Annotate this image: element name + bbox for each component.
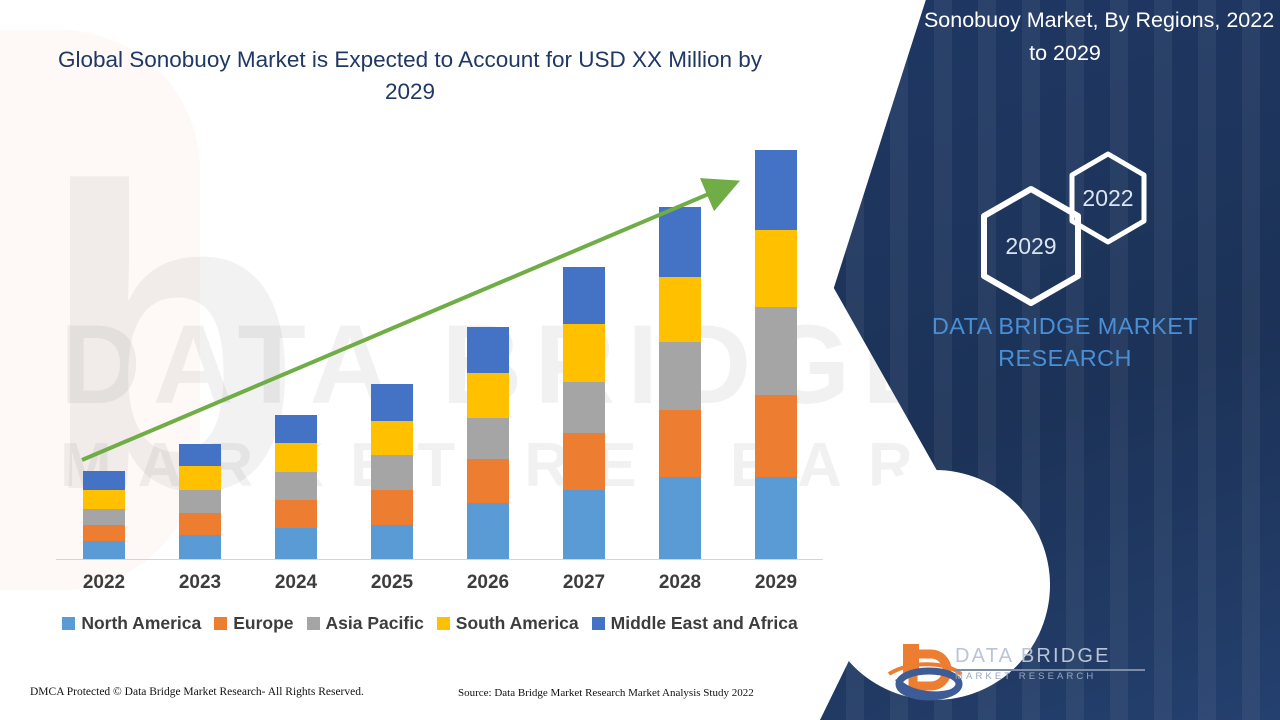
hexagon-2029: 2029 [975,184,1087,308]
bar-segment [659,410,701,477]
bar-segment [179,466,221,490]
bar-segment [755,395,797,477]
bar-segment [563,382,605,432]
legend-swatch-icon [307,617,320,630]
bar-column-2022 [56,150,152,559]
legend-label: North America [81,613,201,634]
bar-segment [371,490,413,525]
bar-segment [83,525,125,541]
bar-segment [467,418,509,460]
logo-text: DATA BRIDGE MARKET RESEARCH [955,645,1155,682]
bar-column-2024 [248,150,344,559]
bar-column-2026 [440,150,536,559]
bar-segment [755,477,797,559]
legend-label: Europe [233,613,293,634]
x-axis-label-2022: 2022 [56,572,152,594]
bar-segment [275,443,317,473]
logo-text-line-1: DATA BRIDGE [955,645,1155,668]
bar-segment [755,230,797,307]
bar-segment [563,433,605,490]
bar-segment [275,415,317,442]
legend-label: South America [456,613,579,634]
bar-segment [659,477,701,559]
stacked-bar [659,207,701,559]
legend-swatch-icon [62,617,75,630]
bar-segment [275,528,317,559]
x-axis-line [56,559,824,560]
x-axis-labels: 20222023202420252026202720282029 [56,572,824,594]
stacked-bar [467,327,509,559]
bar-segment [467,503,509,559]
bar-segment [659,207,701,277]
bar-segment [755,307,797,395]
legend-swatch-icon [437,617,450,630]
legend-item[interactable]: South America [437,613,579,634]
bar-segment [275,472,317,499]
bar-segment [83,509,125,525]
stacked-bar [755,150,797,559]
x-axis-label-2026: 2026 [440,572,536,594]
x-axis-label-2024: 2024 [248,572,344,594]
brand-name: DATA BRIDGE MARKET RESEARCH [855,310,1275,374]
footer-copyright: DMCA Protected © Data Bridge Market Rese… [30,686,364,698]
x-axis-label-2029: 2029 [728,572,824,594]
bar-segment [371,525,413,559]
bar-segment [179,513,221,535]
bar-segment [563,490,605,559]
legend-swatch-icon [592,617,605,630]
bar-segment [371,384,413,421]
bar-segment [467,327,509,373]
bar-segment [179,444,221,466]
hexagon-2029-label: 2029 [975,184,1087,308]
bar-segment [467,373,509,418]
stacked-bar [275,415,317,559]
legend-item[interactable]: Middle East and Africa [592,613,798,634]
bar-segment [83,471,125,490]
bar-group [56,150,824,559]
x-axis-label-2028: 2028 [632,572,728,594]
brand-line-2: RESEARCH [855,342,1275,374]
bar-segment [179,535,221,559]
bar-segment [83,541,125,559]
legend-swatch-icon [214,617,227,630]
legend-label: Middle East and Africa [611,613,798,634]
legend-item[interactable]: North America [62,613,201,634]
footer-source: Source: Data Bridge Market Research Mark… [458,687,754,699]
bar-segment [179,490,221,513]
legend-item[interactable]: Europe [214,613,293,634]
chart-legend: North AmericaEuropeAsia PacificSouth Ame… [30,613,830,634]
bar-column-2025 [344,150,440,559]
logo-text-line-2: MARKET RESEARCH [955,671,1155,682]
bar-segment [371,421,413,455]
bar-segment [755,150,797,230]
legend-item[interactable]: Asia Pacific [307,613,424,634]
x-axis-label-2025: 2025 [344,572,440,594]
stacked-bar [179,444,221,559]
bar-segment [563,324,605,382]
bar-column-2027 [536,150,632,559]
chart-title: Global Sonobuoy Market is Expected to Ac… [30,44,790,108]
stacked-bar [83,471,125,559]
x-axis-label-2027: 2027 [536,572,632,594]
bar-segment [563,267,605,324]
bar-segment [659,277,701,342]
hexagon-group: 2022 2029 [975,150,1185,280]
bar-segment [371,455,413,490]
bar-column-2023 [152,150,248,559]
bar-column-2029 [728,150,824,559]
stacked-bar [371,384,413,559]
bar-segment [275,500,317,529]
chart-plot-area [56,150,824,560]
bar-segment [83,490,125,509]
logo-divider [955,669,1145,671]
bar-column-2028 [632,150,728,559]
bar-segment [467,459,509,503]
infographic-slide: b DATA BRIDGE MARKET RESEARCH Global Son… [0,0,1280,720]
panel-title: Global Sonobuoy Market, By Regions, 2022… [850,4,1280,70]
legend-label: Asia Pacific [326,613,424,634]
x-axis-label-2023: 2023 [152,572,248,594]
stacked-bar [563,267,605,559]
bar-segment [659,342,701,410]
brand-line-1: DATA BRIDGE MARKET [855,310,1275,342]
